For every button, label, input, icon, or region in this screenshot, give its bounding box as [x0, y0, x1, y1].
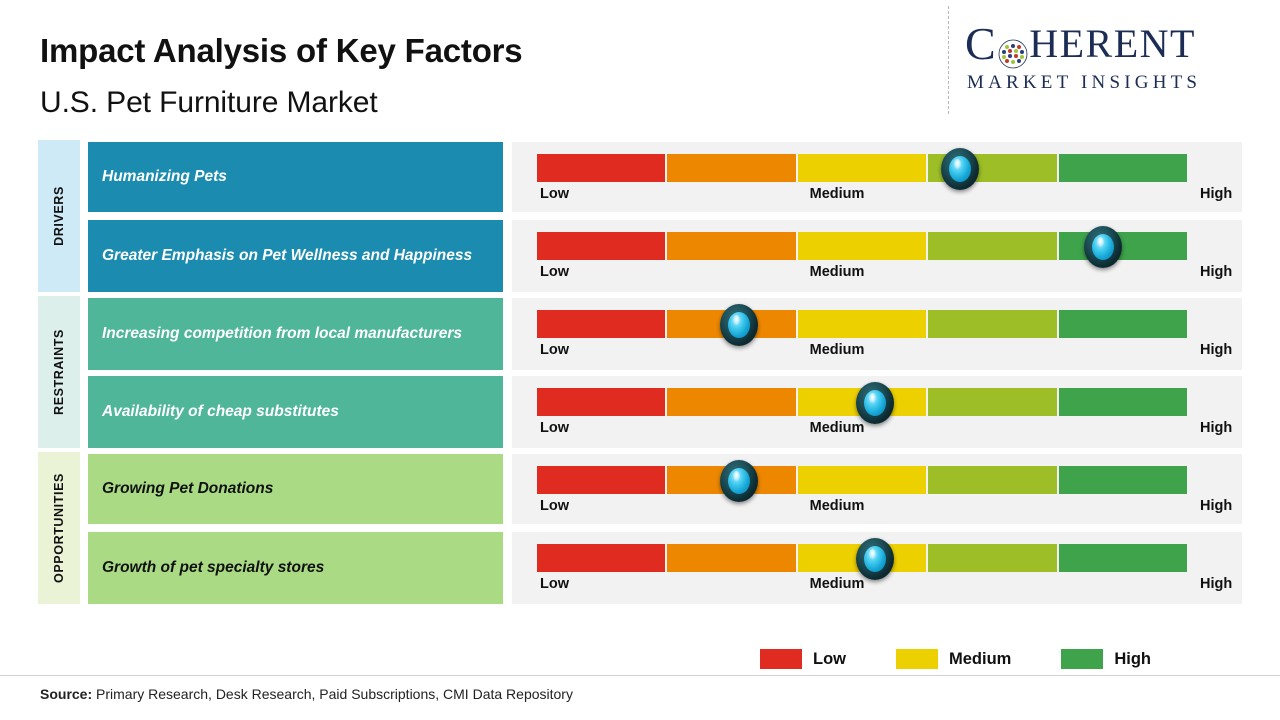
- footer-divider: [0, 675, 1280, 676]
- gauge-tick-low: Low: [540, 186, 569, 202]
- gauge-tick-medium: Medium: [810, 498, 865, 514]
- gauge-segment-1: [537, 310, 665, 338]
- gauge-segment-2: [667, 232, 795, 260]
- factor-label: Growing Pet Donations: [102, 479, 273, 500]
- gauge-tick-high: High: [1200, 342, 1232, 358]
- factor-cell[interactable]: Humanizing Pets: [88, 142, 503, 212]
- company-logo: C HERENT MARKET INSIGHTS: [965, 20, 1265, 105]
- category-label: OPPORTUNITIES: [52, 473, 66, 583]
- marker-highlight: [954, 159, 961, 169]
- gauge-segment-4: [928, 466, 1056, 494]
- gauge-tick-low: Low: [540, 498, 569, 514]
- legend-label: Low: [813, 650, 846, 669]
- gauge-segment-2: [667, 154, 795, 182]
- gauge-segment-1: [537, 232, 665, 260]
- gauge-segment-4: [928, 544, 1056, 572]
- marker-highlight: [1097, 237, 1104, 247]
- impact-gauge[interactable]: LowMediumHigh: [512, 220, 1242, 292]
- source-label: Source:: [40, 686, 92, 702]
- gauge-segment-2: [667, 388, 795, 416]
- gauge-segment-3: [798, 466, 926, 494]
- gauge-segment-5: [1059, 388, 1187, 416]
- legend: LowMediumHigh: [760, 645, 1151, 673]
- gauge-segment-1: [537, 544, 665, 572]
- impact-gauge[interactable]: LowMediumHigh: [512, 454, 1242, 524]
- gauge-tick-high: High: [1200, 420, 1232, 436]
- marker-highlight: [869, 393, 876, 403]
- logo-wordmark: C HERENT: [965, 20, 1265, 67]
- gauge-tick-low: Low: [540, 342, 569, 358]
- header: Impact Analysis of Key Factors U.S. Pet …: [0, 0, 1280, 130]
- impact-marker[interactable]: [720, 460, 758, 502]
- gauge-tick-medium: Medium: [810, 342, 865, 358]
- impact-matrix: DRIVERSRESTRAINTSOPPORTUNITIESHumanizing…: [0, 140, 1280, 610]
- source-text: Primary Research, Desk Research, Paid Su…: [96, 686, 573, 702]
- gauge-segment-5: [1059, 154, 1187, 182]
- legend-item: Medium: [896, 649, 1011, 669]
- impact-gauge[interactable]: LowMediumHigh: [512, 298, 1242, 370]
- gauge-tick-low: Low: [540, 420, 569, 436]
- factor-label: Humanizing Pets: [102, 167, 227, 188]
- gauge-tick-high: High: [1200, 186, 1232, 202]
- gauge-segment-1: [537, 154, 665, 182]
- logo-tagline: MARKET INSIGHTS: [967, 72, 1267, 94]
- category-block-drivers: DRIVERS: [38, 140, 80, 292]
- gauge-tick-low: Low: [540, 264, 569, 280]
- globe-icon: [998, 32, 1028, 62]
- category-block-restraints: RESTRAINTS: [38, 296, 80, 448]
- impact-gauge[interactable]: LowMediumHigh: [512, 532, 1242, 604]
- gauge-segment-5: [1059, 310, 1187, 338]
- factor-cell[interactable]: Growth of pet specialty stores: [88, 532, 503, 604]
- marker-highlight: [733, 315, 740, 325]
- impact-gauge[interactable]: LowMediumHigh: [512, 376, 1242, 448]
- factor-label: Increasing competition from local manufa…: [102, 324, 462, 345]
- gauge-segment-5: [1059, 232, 1187, 260]
- legend-swatch: [1061, 649, 1103, 669]
- logo-wordmark-rest: HERENT: [1029, 20, 1196, 67]
- impact-gauge[interactable]: LowMediumHigh: [512, 142, 1242, 212]
- factor-cell[interactable]: Greater Emphasis on Pet Wellness and Hap…: [88, 220, 503, 292]
- gauge-scale-bar: [537, 466, 1187, 494]
- legend-label: High: [1114, 650, 1151, 669]
- page-subtitle: U.S. Pet Furniture Market: [40, 86, 378, 120]
- legend-swatch: [896, 649, 938, 669]
- legend-item: Low: [760, 649, 846, 669]
- legend-swatch: [760, 649, 802, 669]
- infographic-page: Impact Analysis of Key Factors U.S. Pet …: [0, 0, 1280, 720]
- gauge-segment-2: [667, 544, 795, 572]
- factor-cell[interactable]: Increasing competition from local manufa…: [88, 298, 503, 370]
- gauge-scale-bar: [537, 154, 1187, 182]
- gauge-segment-5: [1059, 544, 1187, 572]
- gauge-segment-5: [1059, 466, 1187, 494]
- category-block-opportunities: OPPORTUNITIES: [38, 452, 80, 604]
- source-note: Source: Primary Research, Desk Research,…: [40, 686, 573, 702]
- gauge-tick-high: High: [1200, 576, 1232, 592]
- impact-marker[interactable]: [941, 148, 979, 190]
- gauge-segment-4: [928, 310, 1056, 338]
- gauge-tick-medium: Medium: [810, 186, 865, 202]
- category-label: DRIVERS: [52, 186, 66, 246]
- gauge-segment-3: [798, 310, 926, 338]
- logo-divider: [948, 6, 949, 114]
- gauge-segment-4: [928, 388, 1056, 416]
- factor-label: Availability of cheap substitutes: [102, 402, 339, 423]
- impact-marker[interactable]: [856, 538, 894, 580]
- gauge-tick-low: Low: [540, 576, 569, 592]
- factor-cell[interactable]: Growing Pet Donations: [88, 454, 503, 524]
- gauge-scale-bar: [537, 310, 1187, 338]
- factor-label: Growth of pet specialty stores: [102, 558, 324, 579]
- gauge-tick-high: High: [1200, 264, 1232, 280]
- impact-marker[interactable]: [856, 382, 894, 424]
- factor-cell[interactable]: Availability of cheap substitutes: [88, 376, 503, 448]
- gauge-tick-medium: Medium: [810, 264, 865, 280]
- gauge-segment-3: [798, 154, 926, 182]
- legend-label: Medium: [949, 650, 1011, 669]
- marker-highlight: [869, 549, 876, 559]
- page-title: Impact Analysis of Key Factors: [40, 32, 522, 70]
- marker-highlight: [733, 471, 740, 481]
- factor-label: Greater Emphasis on Pet Wellness and Hap…: [102, 246, 472, 267]
- impact-marker[interactable]: [1084, 226, 1122, 268]
- logo-letter-c: C: [965, 21, 997, 67]
- legend-item: High: [1061, 649, 1151, 669]
- category-label: RESTRAINTS: [52, 329, 66, 415]
- impact-marker[interactable]: [720, 304, 758, 346]
- gauge-segment-1: [537, 388, 665, 416]
- gauge-segment-4: [928, 232, 1056, 260]
- gauge-segment-3: [798, 232, 926, 260]
- gauge-tick-high: High: [1200, 498, 1232, 514]
- gauge-segment-1: [537, 466, 665, 494]
